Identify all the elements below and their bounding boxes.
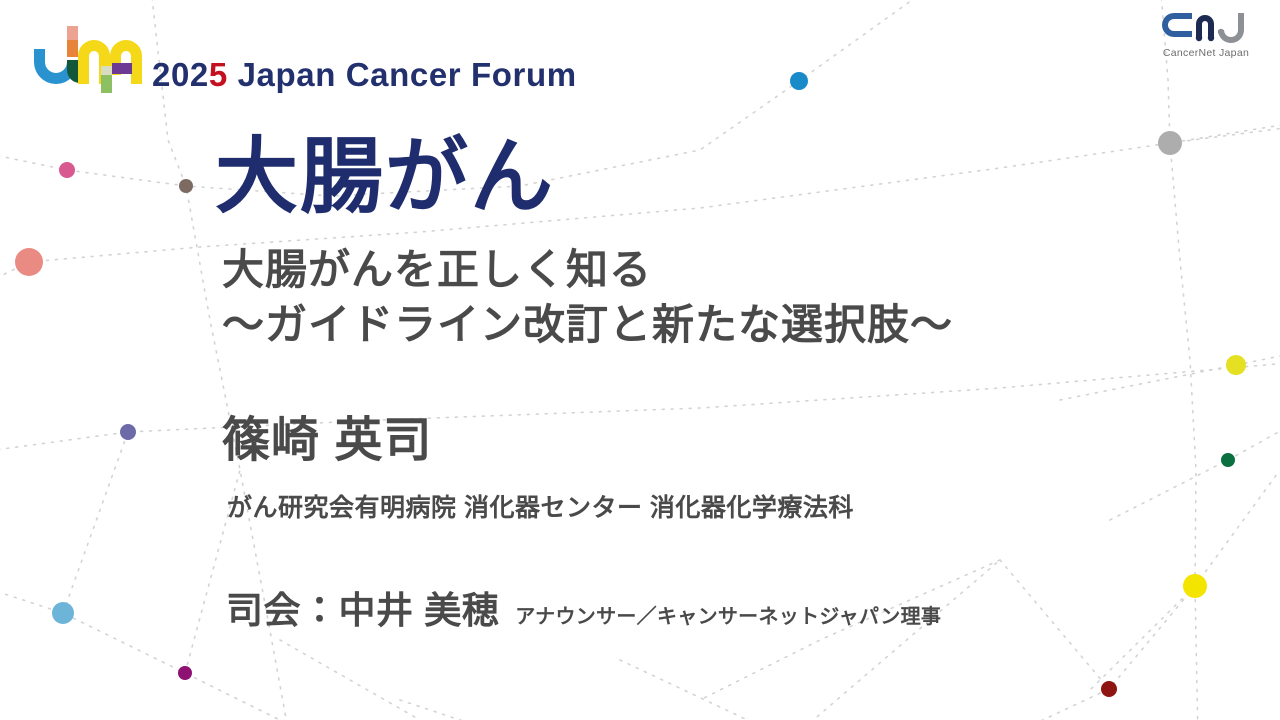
- subtitle-line-2: 〜ガイドライン改訂と新たな選択肢〜: [222, 304, 953, 346]
- page-title: 大腸がん: [215, 135, 555, 218]
- presentation-slide: 2025 Japan Cancer Forum CancerNet Japan …: [0, 0, 1280, 720]
- slide-body: 大腸がん 大腸がんを正しく知る 〜ガイドライン改訂と新たな選択肢〜 篠崎 英司 …: [0, 0, 1280, 720]
- moderator-block: 司会：中井 美穂 アナウンサー／キャンサーネットジャパン理事: [226, 592, 941, 629]
- speaker-name: 篠崎 英司: [222, 417, 432, 465]
- speaker-affiliation: がん研究会有明病院 消化器センター 消化器化学療法科: [227, 496, 854, 521]
- subtitle-line-1: 大腸がんを正しく知る: [222, 249, 652, 291]
- moderator-role: アナウンサー／キャンサーネットジャパン理事: [515, 607, 941, 627]
- moderator-name: 司会：中井 美穂: [226, 592, 499, 629]
